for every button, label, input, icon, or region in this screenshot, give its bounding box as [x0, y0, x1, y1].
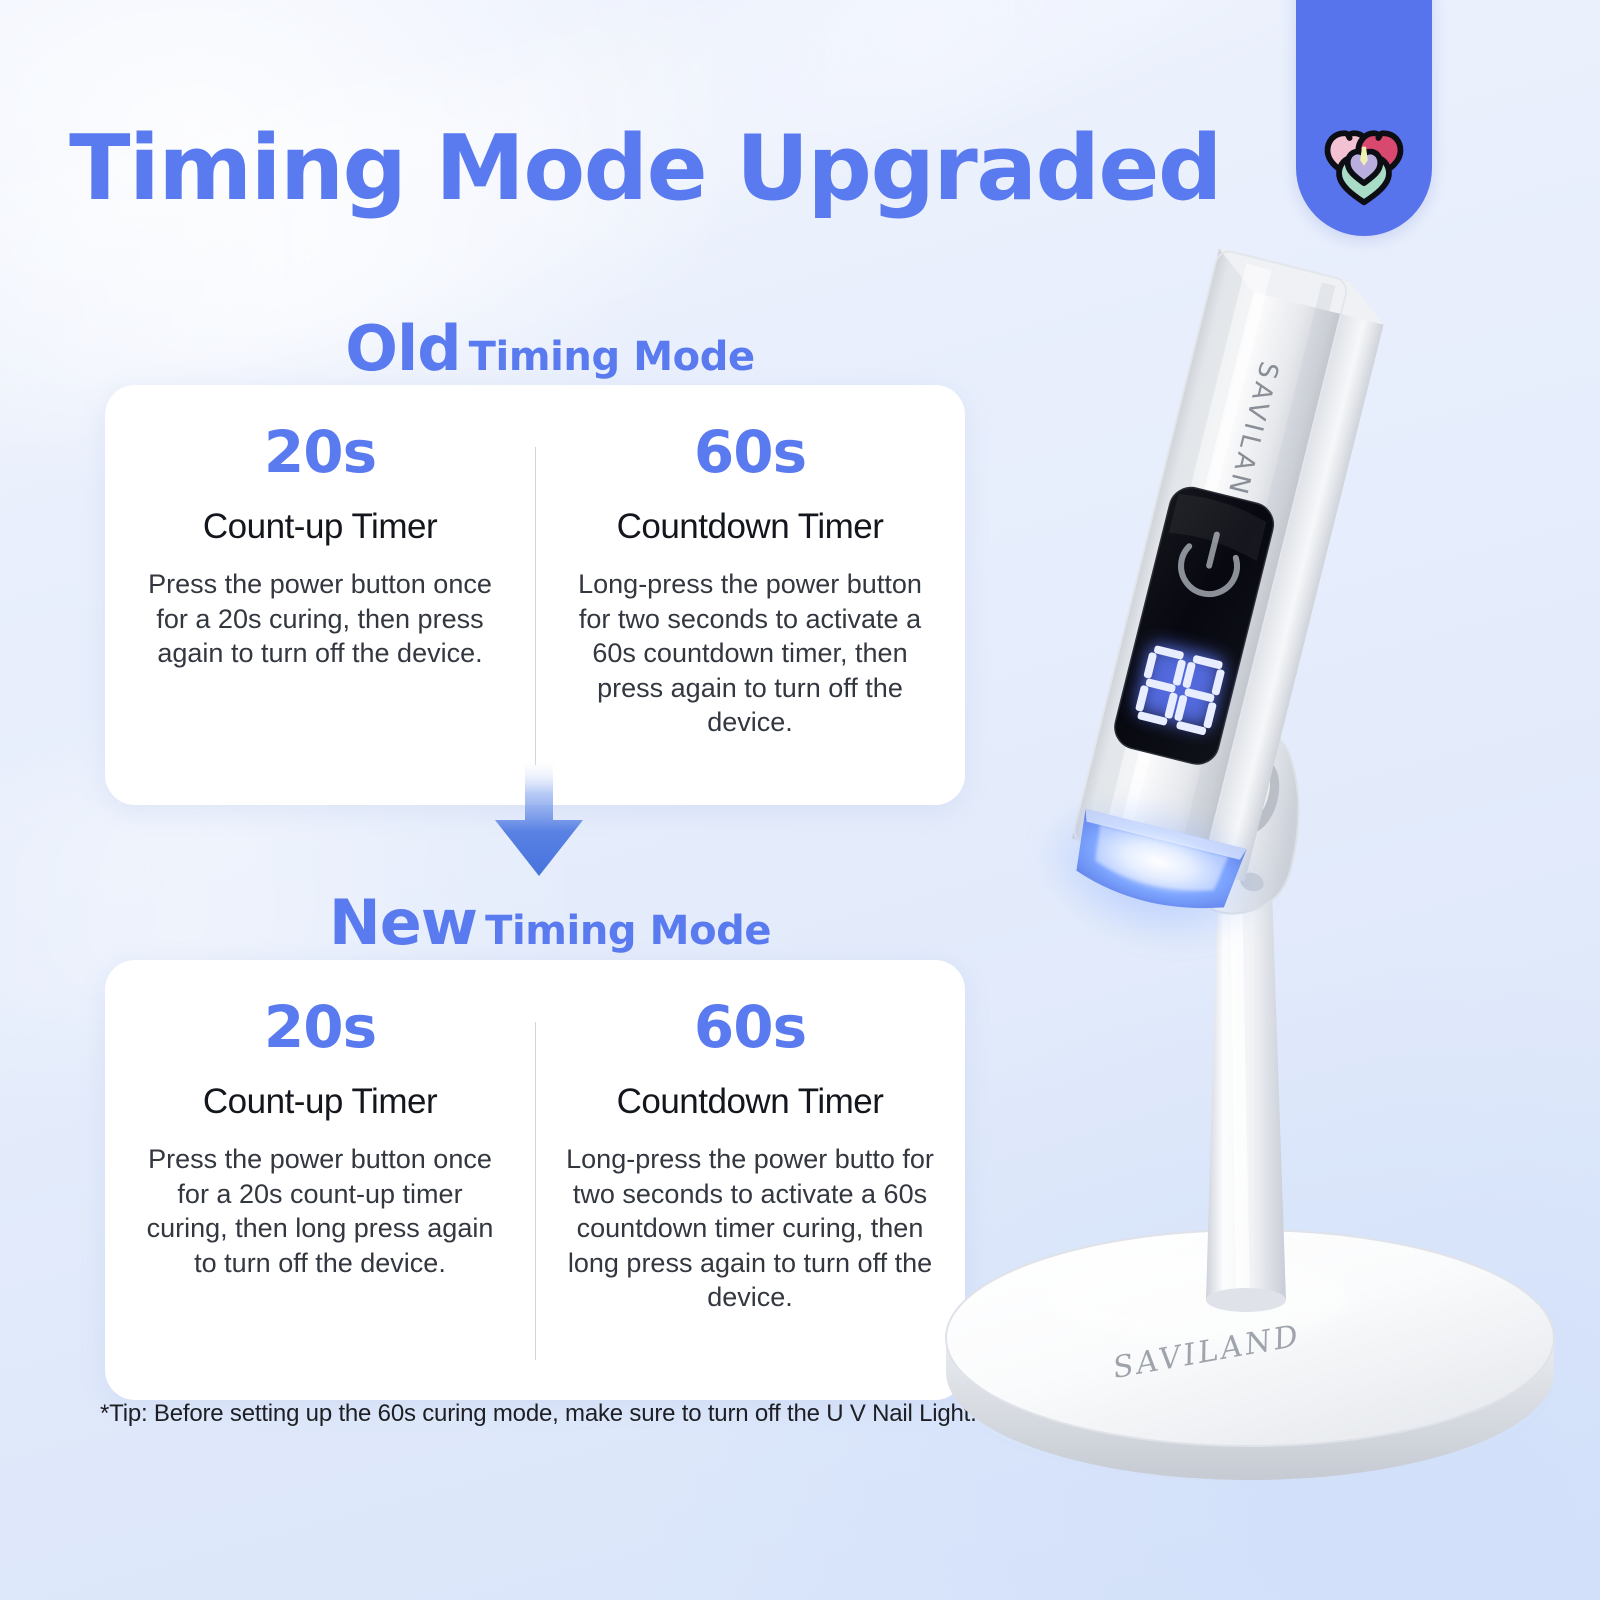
section-heading-new-small: Timing Mode [485, 908, 771, 954]
section-heading-new: NewTiming Mode [60, 886, 1040, 959]
section-heading-old-big: Old [345, 312, 460, 385]
timer-column-new-countup: 20s Count-up Timer Press the power butto… [105, 960, 535, 1400]
section-heading-old: OldTiming Mode [60, 312, 1040, 385]
down-arrow-icon [487, 758, 591, 878]
section-heading-new-big: New [329, 886, 477, 959]
timer-title: Count-up Timer [203, 507, 437, 547]
product-image-uv-nail-lamp: SAVILAND SAVILAND [900, 210, 1600, 1540]
tip-note: *Tip: Before setting up the 60s curing m… [100, 1400, 960, 1428]
timer-description: Long-press the power butto for two secon… [565, 1142, 935, 1315]
flower-heart-logo-icon [1316, 114, 1412, 210]
lamp-pole [1206, 890, 1286, 1312]
timing-mode-card-old: 20s Count-up Timer Press the power butto… [105, 385, 965, 805]
lamp-wand: SAVILAND [1018, 240, 1419, 971]
timing-mode-card-new: 20s Count-up Timer Press the power butto… [105, 960, 965, 1400]
brand-badge [1296, 0, 1432, 236]
timer-title: Count-up Timer [203, 1082, 437, 1122]
duration-label: 60s [694, 998, 806, 1056]
duration-label: 60s [694, 423, 806, 481]
timer-title: Countdown Timer [617, 507, 884, 547]
duration-label: 20s [264, 998, 376, 1056]
timer-description: Press the power button once for a 20s co… [135, 1142, 505, 1280]
timer-column-old-countup: 20s Count-up Timer Press the power butto… [105, 385, 535, 805]
timer-description: Press the power button once for a 20s cu… [135, 567, 505, 671]
duration-label: 20s [264, 423, 376, 481]
section-heading-old-small: Timing Mode [469, 334, 755, 380]
timer-title: Countdown Timer [617, 1082, 884, 1122]
timer-description: Long-press the power button for two seco… [565, 567, 935, 740]
page-title: Timing Mode Upgraded [0, 116, 1290, 221]
